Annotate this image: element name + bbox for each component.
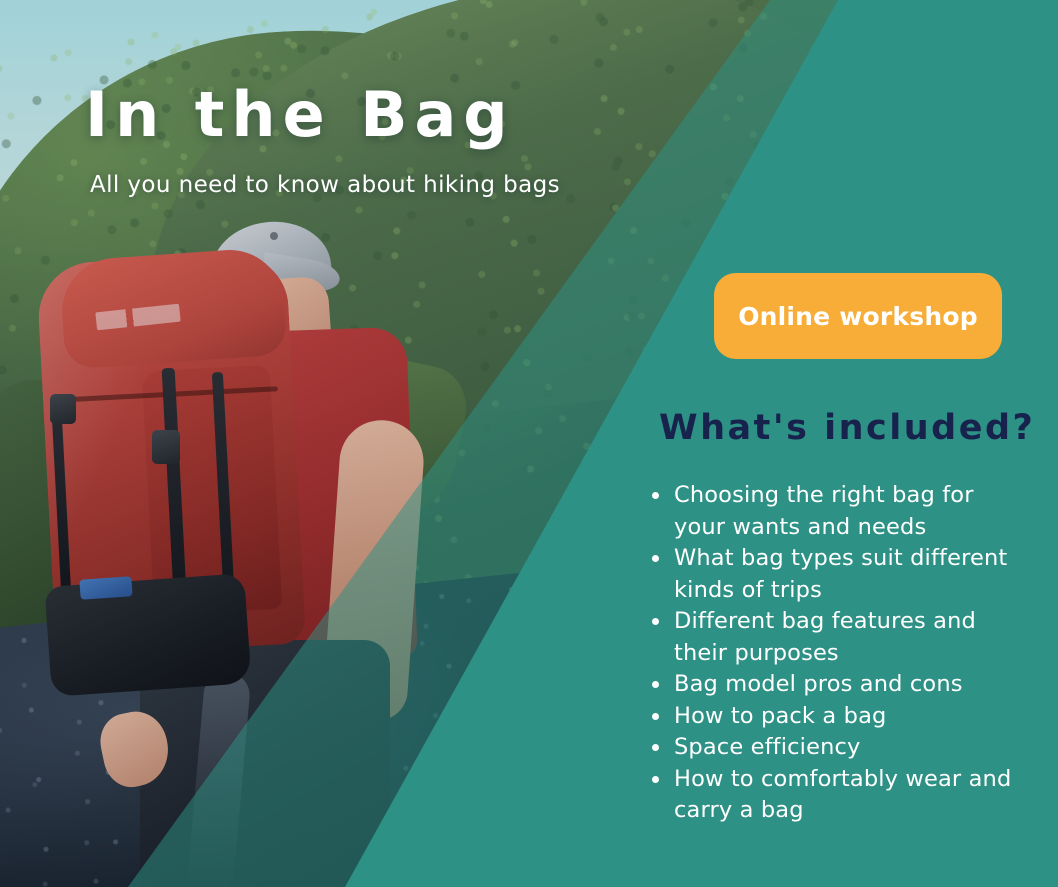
included-items-list: Choosing the right bag for your wants an… — [648, 480, 1018, 827]
list-item: Space efficiency — [648, 732, 1018, 764]
hiking-bags-promo-poster: In the Bag All you need to know about hi… — [0, 0, 1058, 887]
poster-title: In the Bag — [85, 84, 515, 146]
list-item: Bag model pros and cons — [648, 669, 1018, 701]
list-item: How to pack a bag — [648, 701, 1018, 733]
list-item: How to comfortably wear and carry a bag — [648, 764, 1018, 827]
poster-subtitle: All you need to know about hiking bags — [90, 172, 560, 198]
whats-included-heading: What's included? — [659, 408, 1004, 448]
list-item: What bag types suit different kinds of t… — [648, 543, 1018, 606]
list-item: Different bag features and their purpose… — [648, 606, 1018, 669]
list-item: Choosing the right bag for your wants an… — [648, 480, 1018, 543]
online-workshop-button[interactable]: Online workshop — [714, 273, 1002, 359]
